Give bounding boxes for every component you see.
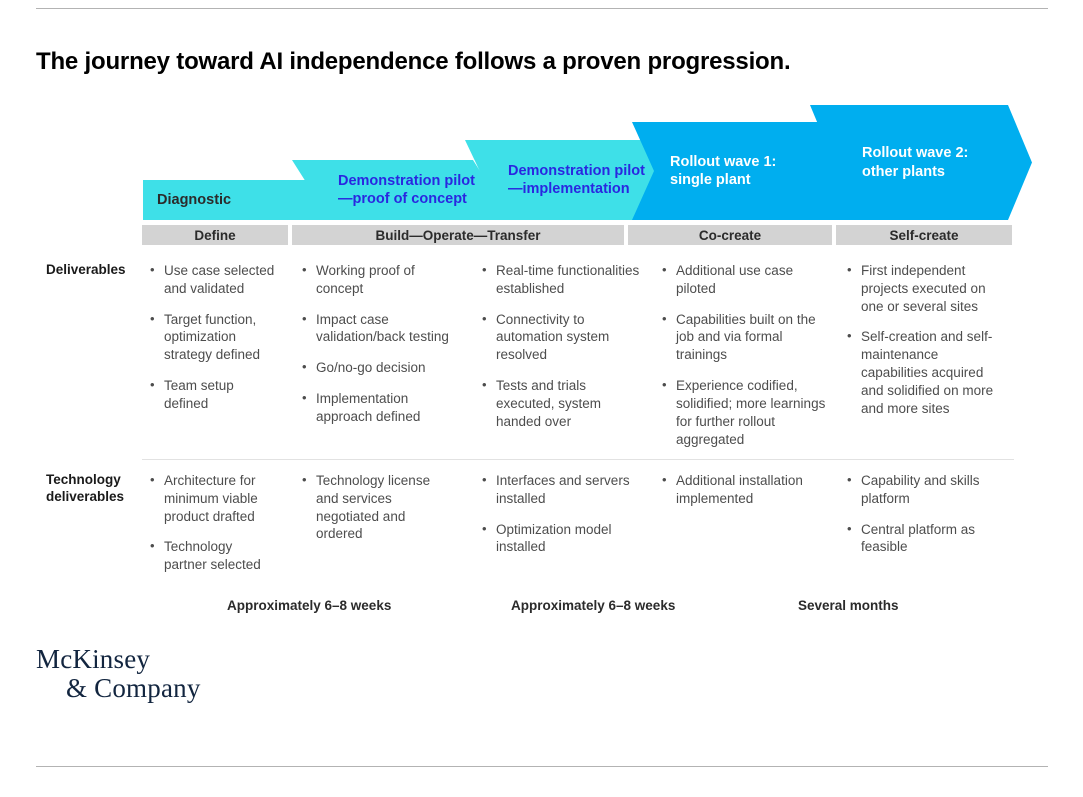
bottom-divider-rule	[36, 766, 1048, 767]
bullet-item: Implementation approach defined	[300, 390, 450, 426]
phase-chevron-label: Diagnostic	[143, 191, 231, 209]
row-label-deliverables: Deliverables	[46, 262, 156, 279]
bullet-item: Go/no-go decision	[300, 359, 450, 377]
phase-chevron-demo-pilot-implementation: Demonstration pilot —implementation	[465, 140, 667, 220]
deliverables-column-5: First independent projects executed on o…	[845, 262, 1005, 418]
bullet-item: Optimization model installed	[480, 521, 640, 557]
phase-chevron-demo-pilot-poc: Demonstration pilot —proof of concept	[292, 160, 492, 220]
bullet-item: Central platform as feasible	[845, 521, 1005, 557]
mckinsey-logo: McKinsey & Company	[36, 645, 201, 703]
bullet-item: Use case selected and validated	[148, 262, 278, 298]
phase-chevron-banner: Diagnostic Demonstration pilot —proof of…	[0, 105, 1083, 220]
bullet-item: Additional installation implemented	[660, 472, 832, 508]
bullet-item: Architecture for minimum viable product …	[148, 472, 278, 525]
bullet-item: Experience codified, solidified; more le…	[660, 377, 832, 448]
technology-column-5: Capability and skills platformCentral pl…	[845, 472, 1005, 556]
bullet-item: Target function, optimization strategy d…	[148, 311, 278, 364]
top-divider-rule	[36, 8, 1048, 9]
bullet-item: Additional use case piloted	[660, 262, 832, 298]
bullet-item: Technology license and services negotiat…	[300, 472, 450, 543]
deliverables-column-2: Working proof of conceptImpact case vali…	[300, 262, 450, 426]
bullet-item: Working proof of concept	[300, 262, 450, 298]
bullet-item: Connectivity to automation system resolv…	[480, 311, 640, 364]
phase-chevron-label: Demonstration pilot —proof of concept	[292, 172, 475, 208]
bullet-item: Team setup defined	[148, 377, 278, 413]
technology-column-4: Additional installation implemented	[660, 472, 832, 508]
technology-column-2: Technology license and services negotiat…	[300, 472, 450, 543]
technology-column-1: Architecture for minimum viable product …	[148, 472, 278, 574]
deliverables-column-3: Real-time functionalities establishedCon…	[480, 262, 640, 431]
deliverables-column-1: Use case selected and validatedTarget fu…	[148, 262, 278, 413]
logo-line-1: McKinsey	[36, 645, 201, 674]
technology-column-3: Interfaces and servers installedOptimiza…	[480, 472, 640, 556]
stage-bar-build-operate-transfer: Build—Operate—Transfer	[292, 225, 624, 245]
row-divider	[142, 459, 1014, 460]
phase-chevron-rollout-wave-1: Rollout wave 1: single plant	[632, 122, 842, 220]
bullet-item: Interfaces and servers installed	[480, 472, 640, 508]
bullet-item: First independent projects executed on o…	[845, 262, 1005, 315]
deliverables-column-4: Additional use case pilotedCapabilities …	[660, 262, 832, 448]
stage-bar-define: Define	[142, 225, 288, 245]
logo-line-2: & Company	[36, 674, 201, 703]
phase-chevron-rollout-wave-2: Rollout wave 2: other plants	[810, 105, 1032, 220]
timing-label-1: Approximately 6–8 weeks	[227, 598, 391, 613]
bullet-item: Tests and trials executed, system handed…	[480, 377, 640, 430]
stage-bar-co-create: Co-create	[628, 225, 832, 245]
bullet-item: Technology partner selected	[148, 538, 278, 574]
bullet-item: Real-time functionalities established	[480, 262, 640, 298]
bullet-item: Self-creation and self-maintenance capab…	[845, 328, 1005, 417]
row-label-technology-deliverables: Technology deliverables	[46, 472, 156, 506]
bullet-item: Capabilities built on the job and via fo…	[660, 311, 832, 364]
timing-label-2: Approximately 6–8 weeks	[511, 598, 675, 613]
phase-chevron-label: Demonstration pilot —implementation	[465, 162, 645, 198]
stage-bar-self-create: Self-create	[836, 225, 1012, 245]
slide-title: The journey toward AI independence follo…	[36, 48, 790, 76]
timing-label-3: Several months	[798, 598, 899, 613]
bullet-item: Impact case validation/back testing	[300, 311, 450, 347]
bullet-item: Capability and skills platform	[845, 472, 1005, 508]
